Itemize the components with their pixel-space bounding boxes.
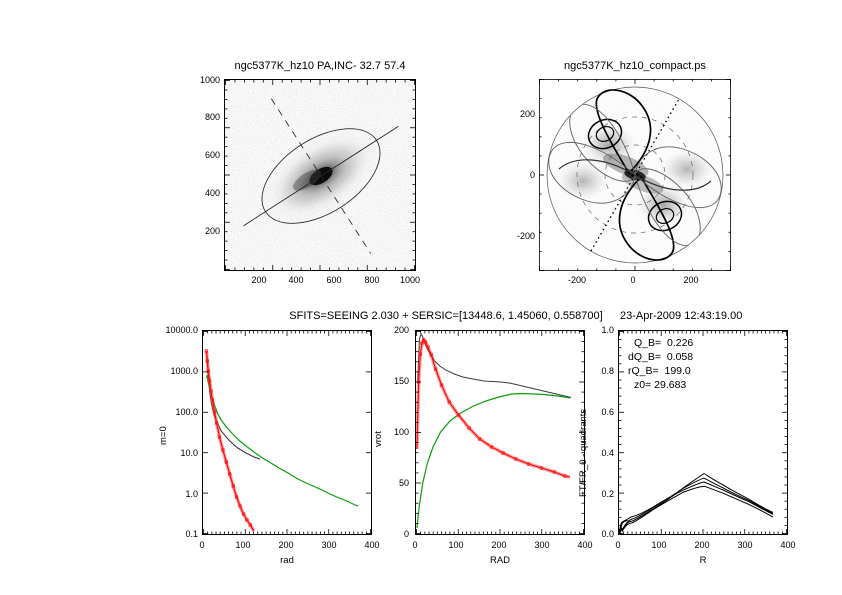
torque-ytick-04: 0.4 xyxy=(586,448,614,458)
deprojected-plotbox xyxy=(539,79,731,271)
torque-xtick-300: 300 xyxy=(732,540,758,550)
sky-ytick-800: 800 xyxy=(188,112,220,122)
rotation-ytick-200: 200 xyxy=(375,325,409,335)
torque-annotation-rq-b: rQ_B= 199.0 xyxy=(628,365,691,379)
torque-annotation-z0: z0= 29.683 xyxy=(634,379,686,393)
sky-image-plotbox xyxy=(224,79,416,271)
rotation-curve-plotbox xyxy=(415,330,585,535)
profile-xtick-300: 300 xyxy=(316,540,342,550)
sky-xtick-800: 800 xyxy=(358,275,386,285)
profile-xtick-0: 0 xyxy=(194,540,210,550)
sky-xtick-1000: 1000 xyxy=(395,275,425,285)
panel-sky-image: ngc5377K_hz10 PA,INC- 32.7 57.4 xyxy=(210,60,430,290)
panel-deprojected: ngc5377K_hz10_compact.ps xyxy=(525,60,745,290)
torque-annotation-q-b: Q_B= 0.226 xyxy=(634,337,693,351)
profile-ytick-1: 1.0 xyxy=(148,489,198,499)
torque-ytick-10: 1.0 xyxy=(586,325,614,335)
deprojected-graphic xyxy=(539,79,731,271)
rotation-xtick-300: 300 xyxy=(529,540,555,550)
sky-ytick-600: 600 xyxy=(188,150,220,160)
torque-annotation-dq-b: dQ_B= 0.058 xyxy=(628,351,693,365)
torque-xaxis-label: R xyxy=(683,555,723,566)
rotation-ytick-0: 0 xyxy=(375,529,409,539)
rotation-xtick-200: 200 xyxy=(486,540,512,550)
torque-xtick-200: 200 xyxy=(689,540,715,550)
panel-sky-image-title: ngc5377K_hz10 PA,INC- 32.7 57.4 xyxy=(162,60,478,72)
profile-ytick-10: 10.0 xyxy=(148,448,198,458)
torque-ytick-08: 0.8 xyxy=(586,366,614,376)
rotation-curve-graphic xyxy=(416,331,585,535)
panel-radial-profile: 10000.0 1000.0 100.0 10.0 1.0 0.1 0 100 … xyxy=(150,325,390,575)
rotation-ytick-50: 50 xyxy=(375,478,409,488)
torque-ytick-00: 0.0 xyxy=(586,529,614,539)
sky-xtick-600: 600 xyxy=(320,275,348,285)
sky-ytick-400: 400 xyxy=(188,188,220,198)
radial-profile-graphic xyxy=(203,331,372,535)
fit-header-text: SFITS=SEEING 2.030 + SERSIC=[13448.6, 1.… xyxy=(256,310,636,322)
deproj-xtick-neg200: -200 xyxy=(561,275,593,285)
rotation-xaxis-label: RAD xyxy=(480,555,520,566)
deproj-xtick-200: 200 xyxy=(677,275,705,285)
profile-xtick-200: 200 xyxy=(273,540,299,550)
rotation-ytick-150: 150 xyxy=(375,376,409,386)
sky-ytick-1000: 1000 xyxy=(188,75,220,85)
deproj-ytick-200: 200 xyxy=(501,109,535,119)
sky-xtick-200: 200 xyxy=(245,275,273,285)
deproj-ytick-neg200: -200 xyxy=(499,231,535,241)
torque-ytick-02: 0.2 xyxy=(586,489,614,499)
profile-yaxis-label: m=0 xyxy=(158,426,169,445)
panel-torque-quadrants: Q_B= 0.226 dQ_B= 0.058 rQ_B= 199.0 z0= 2… xyxy=(590,325,830,575)
torque-ytick-06: 0.6 xyxy=(586,407,614,417)
rotation-xtick-100: 100 xyxy=(443,540,469,550)
torque-yaxis-label: FT/FR_0 - quadrants xyxy=(578,409,589,497)
profile-xaxis-label: rad xyxy=(267,555,307,566)
profile-ytick-100: 100.0 xyxy=(148,407,198,417)
torque-xtick-0: 0 xyxy=(610,540,626,550)
rotation-xtick-0: 0 xyxy=(407,540,423,550)
sky-image-graphic xyxy=(225,80,416,271)
sky-xtick-400: 400 xyxy=(282,275,310,285)
rotation-yaxis-label: vrot xyxy=(373,431,384,447)
profile-xtick-100: 100 xyxy=(230,540,256,550)
sky-ytick-200: 200 xyxy=(188,226,220,236)
profile-ytick-10000: 10000.0 xyxy=(148,325,198,335)
torque-xtick-100: 100 xyxy=(646,540,672,550)
torque-xtick-400: 400 xyxy=(775,540,801,550)
profile-ytick-01: 0.1 xyxy=(148,529,198,539)
panel-deprojected-title: ngc5377K_hz10_compact.ps xyxy=(487,60,783,72)
fit-header-timestamp: 23-Apr-2009 12:43:19.00 xyxy=(620,310,810,322)
deproj-ytick-0: 0 xyxy=(501,170,535,180)
profile-ytick-1000: 1000.0 xyxy=(148,366,198,376)
deproj-xtick-0: 0 xyxy=(624,275,642,285)
figure-canvas: ngc5377K_hz10 PA,INC- 32.7 57.4 xyxy=(0,0,842,595)
radial-profile-plotbox xyxy=(202,330,372,535)
